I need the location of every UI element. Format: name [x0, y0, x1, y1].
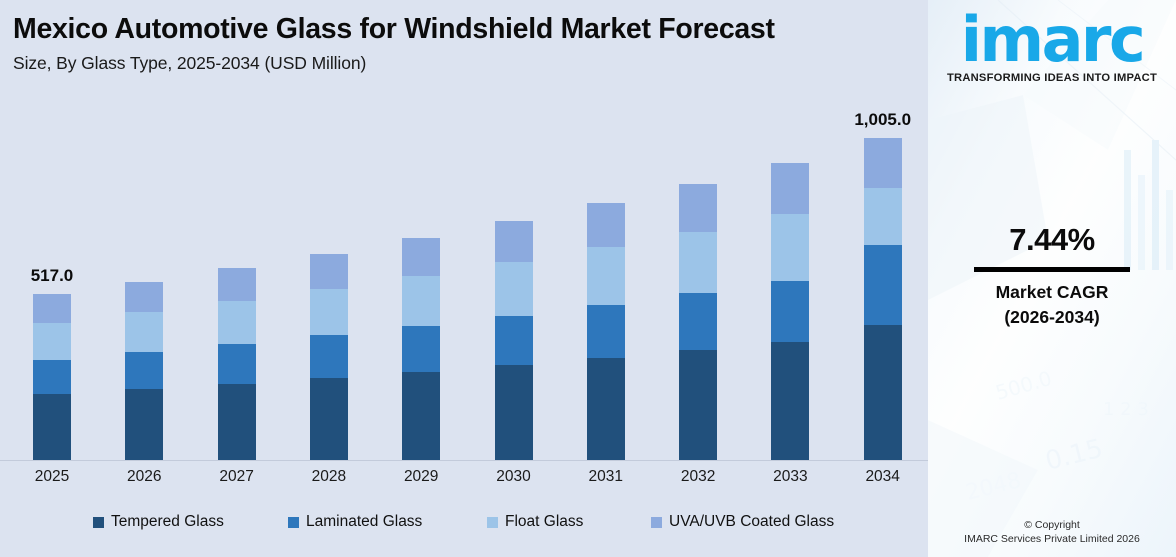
- bar-2031[interactable]: [587, 203, 625, 460]
- bar-segment-uva-uvb-coated-glass[interactable]: [218, 268, 256, 301]
- bar-segment-tempered-glass[interactable]: [587, 358, 625, 460]
- legend-swatch-icon: [487, 517, 498, 528]
- bar-segment-laminated-glass[interactable]: [402, 326, 440, 372]
- bar-segment-float-glass[interactable]: [587, 247, 625, 305]
- x-axis-label-2034: 2034: [848, 468, 918, 486]
- bar-segment-float-glass[interactable]: [771, 214, 809, 281]
- legend-label: Tempered Glass: [111, 513, 224, 531]
- bar-segment-uva-uvb-coated-glass[interactable]: [587, 203, 625, 247]
- bar-2030[interactable]: [495, 221, 533, 460]
- bar-2027[interactable]: [218, 268, 256, 460]
- x-axis-label-2032: 2032: [663, 468, 733, 486]
- x-axis-label-2028: 2028: [294, 468, 364, 486]
- bar-segment-laminated-glass[interactable]: [587, 305, 625, 358]
- brand-side-panel: 0.15 2048 500.0 1 2 3 imarc TRANSFORMING…: [928, 0, 1176, 557]
- chart-screenshot: Mexico Automotive Glass for Windshield M…: [0, 0, 1176, 557]
- x-axis-label-2031: 2031: [571, 468, 641, 486]
- x-axis-label-2029: 2029: [386, 468, 456, 486]
- cagr-block: 7.44% Market CAGR (2026-2034): [928, 222, 1176, 328]
- bar-segment-laminated-glass[interactable]: [679, 293, 717, 350]
- bar-segment-laminated-glass[interactable]: [218, 344, 256, 384]
- legend-label: UVA/UVB Coated Glass: [669, 513, 834, 531]
- bar-segment-float-glass[interactable]: [402, 276, 440, 326]
- bar-segment-tempered-glass[interactable]: [402, 372, 440, 460]
- svg-text:500.0: 500.0: [993, 366, 1055, 405]
- bar-segment-tempered-glass[interactable]: [679, 350, 717, 460]
- cagr-divider: [974, 267, 1130, 272]
- bar-segment-uva-uvb-coated-glass[interactable]: [771, 163, 809, 214]
- bar-segment-float-glass[interactable]: [218, 301, 256, 344]
- bar-segment-laminated-glass[interactable]: [33, 360, 71, 394]
- bar-segment-float-glass[interactable]: [33, 323, 71, 360]
- cagr-value: 7.44%: [928, 222, 1176, 258]
- bar-segment-laminated-glass[interactable]: [125, 352, 163, 389]
- bar-segment-uva-uvb-coated-glass[interactable]: [864, 138, 902, 188]
- bar-2026[interactable]: [125, 282, 163, 460]
- bar-2033[interactable]: [771, 163, 809, 460]
- bar-segment-float-glass[interactable]: [310, 289, 348, 335]
- bar-segment-uva-uvb-coated-glass[interactable]: [310, 254, 348, 290]
- bar-segment-uva-uvb-coated-glass[interactable]: [402, 238, 440, 276]
- bar-segment-laminated-glass[interactable]: [864, 245, 902, 325]
- plot-area: 517.020252026202720282029203020312032203…: [0, 0, 928, 557]
- legend-swatch-icon: [651, 517, 662, 528]
- logo-tagline: TRANSFORMING IDEAS INTO IMPACT: [928, 72, 1176, 84]
- legend-item-uva-uvb-coated-glass[interactable]: UVA/UVB Coated Glass: [651, 513, 834, 531]
- bar-value-label-2025: 517.0: [0, 266, 122, 286]
- svg-text:1 2 3: 1 2 3: [1103, 399, 1149, 420]
- bar-segment-tempered-glass[interactable]: [125, 389, 163, 460]
- bar-2032[interactable]: [679, 184, 717, 460]
- bar-segment-tempered-glass[interactable]: [771, 342, 809, 460]
- legend-label: Float Glass: [505, 513, 583, 531]
- x-axis-label-2025: 2025: [17, 468, 87, 486]
- bar-2029[interactable]: [402, 238, 440, 460]
- x-axis-label-2030: 2030: [479, 468, 549, 486]
- legend-item-float-glass[interactable]: Float Glass: [487, 513, 583, 531]
- chart-legend: Tempered GlassLaminated GlassFloat Glass…: [0, 513, 928, 539]
- bar-segment-float-glass[interactable]: [495, 262, 533, 316]
- x-axis-line: [0, 460, 928, 461]
- bar-segment-tempered-glass[interactable]: [864, 325, 902, 460]
- bar-segment-float-glass[interactable]: [125, 312, 163, 352]
- bar-segment-laminated-glass[interactable]: [771, 281, 809, 343]
- legend-swatch-icon: [288, 517, 299, 528]
- legend-item-tempered-glass[interactable]: Tempered Glass: [93, 513, 224, 531]
- logo-wordmark: imarc: [928, 10, 1176, 71]
- copyright-line-2: IMARC Services Private Limited 2026: [928, 533, 1176, 545]
- copyright-line-1: © Copyright: [928, 519, 1176, 531]
- x-axis-label-2027: 2027: [202, 468, 272, 486]
- x-axis-label-2026: 2026: [109, 468, 179, 486]
- bar-segment-uva-uvb-coated-glass[interactable]: [495, 221, 533, 262]
- bar-segment-tempered-glass[interactable]: [218, 384, 256, 460]
- bar-2034[interactable]: 1,005.0: [864, 138, 902, 460]
- chart-panel: Mexico Automotive Glass for Windshield M…: [0, 0, 928, 557]
- bar-segment-uva-uvb-coated-glass[interactable]: [125, 282, 163, 313]
- cagr-caption: Market CAGR: [928, 282, 1176, 303]
- bar-segment-float-glass[interactable]: [679, 232, 717, 294]
- legend-label: Laminated Glass: [306, 513, 422, 531]
- bar-2028[interactable]: [310, 254, 348, 460]
- bar-segment-tempered-glass[interactable]: [33, 394, 71, 460]
- copyright-block: © Copyright IMARC Services Private Limit…: [928, 519, 1176, 545]
- bar-segment-uva-uvb-coated-glass[interactable]: [33, 294, 71, 323]
- bar-segment-tempered-glass[interactable]: [495, 365, 533, 460]
- bar-segment-float-glass[interactable]: [864, 188, 902, 245]
- legend-swatch-icon: [93, 517, 104, 528]
- bar-segment-laminated-glass[interactable]: [310, 335, 348, 378]
- cagr-period: (2026-2034): [928, 307, 1176, 328]
- bar-segment-tempered-glass[interactable]: [310, 378, 348, 460]
- bar-segment-uva-uvb-coated-glass[interactable]: [679, 184, 717, 231]
- x-axis-label-2033: 2033: [755, 468, 825, 486]
- bar-segment-laminated-glass[interactable]: [495, 316, 533, 365]
- bar-2025[interactable]: 517.0: [33, 294, 71, 460]
- legend-item-laminated-glass[interactable]: Laminated Glass: [288, 513, 422, 531]
- imarc-logo: imarc TRANSFORMING IDEAS INTO IMPACT: [928, 10, 1176, 84]
- svg-text:0.15: 0.15: [1042, 434, 1105, 477]
